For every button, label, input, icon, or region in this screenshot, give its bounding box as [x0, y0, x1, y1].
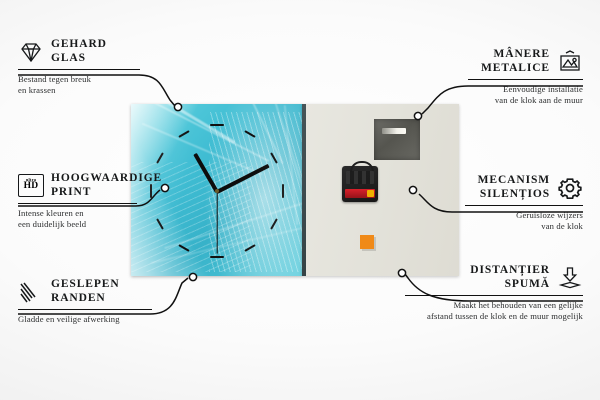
feature-title: HOOGWAARDIGE PRINT	[51, 172, 162, 199]
spacer-arrow-icon	[557, 266, 583, 290]
feature-rule	[18, 309, 152, 310]
gear-icon	[557, 176, 583, 200]
feature-description: Intense kleuren en een duidelijk beeld	[18, 208, 228, 229]
feature-header: GEHARD GLAS	[18, 38, 218, 65]
feature-rule	[405, 295, 583, 296]
beveled-edges-icon	[18, 280, 44, 304]
feature-mecanism-silentios[interactable]: MECANISM SILENȚIOS Geruisloze wijzers va…	[353, 174, 583, 231]
feature-header: GESLEPEN RANDEN	[18, 278, 228, 305]
feature-title: DISTANȚIER SPUMĂ	[470, 264, 550, 291]
ultra-hd-icon: ultra HD	[18, 174, 44, 198]
feature-description: Bestand tegen breuk en krassen	[18, 74, 218, 95]
feature-description: Eenvoudige installatie van de klok aan d…	[353, 84, 583, 105]
feature-manere-metalice[interactable]: MÂNERE METALICE Eenvoudige installatie v…	[353, 48, 583, 105]
feature-description: Gladde en veilige afwerking	[18, 314, 228, 325]
metal-hanger-plate	[374, 119, 420, 160]
infographic-canvas: GEHARD GLAS Bestand tegen breuk en krass…	[0, 0, 600, 400]
hanger-slot	[382, 128, 406, 134]
feature-geslepen-randen[interactable]: GESLEPEN RANDEN Gladde en veilige afwerk…	[18, 278, 228, 325]
foam-spacer	[360, 235, 374, 249]
feature-description: Maakt het behouden van een gelijke afsta…	[293, 300, 583, 321]
feature-rule	[18, 203, 137, 204]
feature-header: DISTANȚIER SPUMĂ	[293, 264, 583, 291]
feature-header: MECANISM SILENȚIOS	[353, 174, 583, 201]
diamond-icon	[18, 40, 44, 64]
feature-header: MÂNERE METALICE	[353, 48, 583, 75]
feature-header: ultra HD HOOGWAARDIGE PRINT	[18, 172, 228, 199]
feature-title: GEHARD GLAS	[51, 38, 107, 65]
picture-hanger-icon	[557, 50, 583, 74]
feature-distantier-spuma[interactable]: DISTANȚIER SPUMĂ Maakt het behouden van …	[293, 264, 583, 321]
feature-rule	[465, 205, 583, 206]
feature-description: Geruisloze wijzers van de klok	[353, 210, 583, 231]
panel-edge	[302, 104, 306, 276]
feature-title: GESLEPEN RANDEN	[51, 278, 120, 305]
feature-gehard-glas[interactable]: GEHARD GLAS Bestand tegen breuk en krass…	[18, 38, 218, 95]
feature-title: MÂNERE METALICE	[481, 48, 550, 75]
feature-title: MECANISM SILENȚIOS	[478, 174, 550, 201]
feature-hoogwaardige-print[interactable]: ultra HD HOOGWAARDIGE PRINT Intense kleu…	[18, 172, 228, 229]
feature-rule	[468, 79, 583, 80]
feature-rule	[18, 69, 140, 70]
